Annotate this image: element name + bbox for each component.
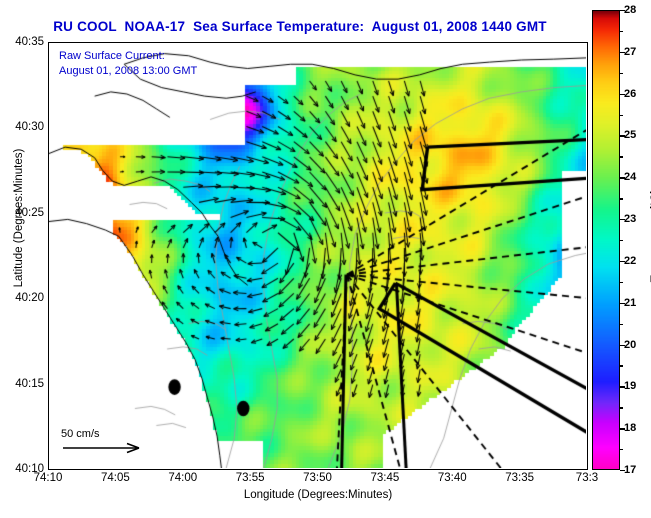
colorbar-minor-tick [620,407,623,408]
colorbar-tick-label: 26 [624,88,636,100]
colorbar-tick-label: 27 [624,46,636,58]
colorbar-minor-tick [620,240,623,241]
x-tick-label: 73:50 [303,472,332,484]
x-tick-label: 74:05 [101,472,130,484]
velocity-scale-bar: 50 cm/s [61,428,169,455]
colorbar-gradient [593,11,619,469]
colorbar-tick-label: 25 [624,129,636,141]
colorbar-tick-label: 19 [624,380,636,392]
x-tick-label: 73:40 [438,472,467,484]
colorbar-minor-tick [620,156,623,157]
colorbar-minor-tick [620,73,623,74]
colorbar [592,10,620,470]
colorbar-minor-tick [620,31,623,32]
colorbar-tick-label: 22 [624,255,636,267]
colorbar-tick-label: 21 [624,297,636,309]
colorbar-tick-label: 18 [624,422,636,434]
colorbar-tick-label: 28 [624,4,636,16]
y-tick-label: 40:10 [15,463,44,475]
x-tick-label: 74:00 [168,472,197,484]
figure-title: RU COOL NOAA-17 Sea Surface Temperature:… [0,19,600,34]
colorbar-minor-tick [620,282,623,283]
scale-bar-label: 50 cm/s [61,428,169,440]
x-axis-label: Longitude (Degrees:Minutes) [48,489,588,501]
y-tick-label: 40:35 [15,36,44,48]
sst-map-canvas [49,43,586,468]
colorbar-minor-tick [620,449,623,450]
colorbar-tick-label: 17 [624,464,636,476]
colorbar-minor-tick [620,198,623,199]
colorbar-minor-tick [620,115,623,116]
colorbar-tick-label: 24 [624,171,636,183]
sst-map-figure: RU COOL NOAA-17 Sea Surface Temperature:… [0,0,651,518]
scale-bar-arrow-icon [61,441,147,455]
map-plot-area[interactable]: Raw Surface Current: August 01, 2008 13:… [48,42,588,470]
colorbar-minor-tick [620,365,623,366]
x-tick-label: 73:55 [236,472,265,484]
x-tick-label: 73:3 [576,472,598,484]
colorbar-tick-label: 20 [624,339,636,351]
x-tick-label: 73:45 [370,472,399,484]
x-tick-label: 73:35 [505,472,534,484]
colorbar-tick-label: 23 [624,213,636,225]
y-axis-label: Latitude (Degrees:Minutes) [13,118,25,318]
y-tick-label: 40:15 [15,378,44,390]
colorbar-minor-tick [620,324,623,325]
